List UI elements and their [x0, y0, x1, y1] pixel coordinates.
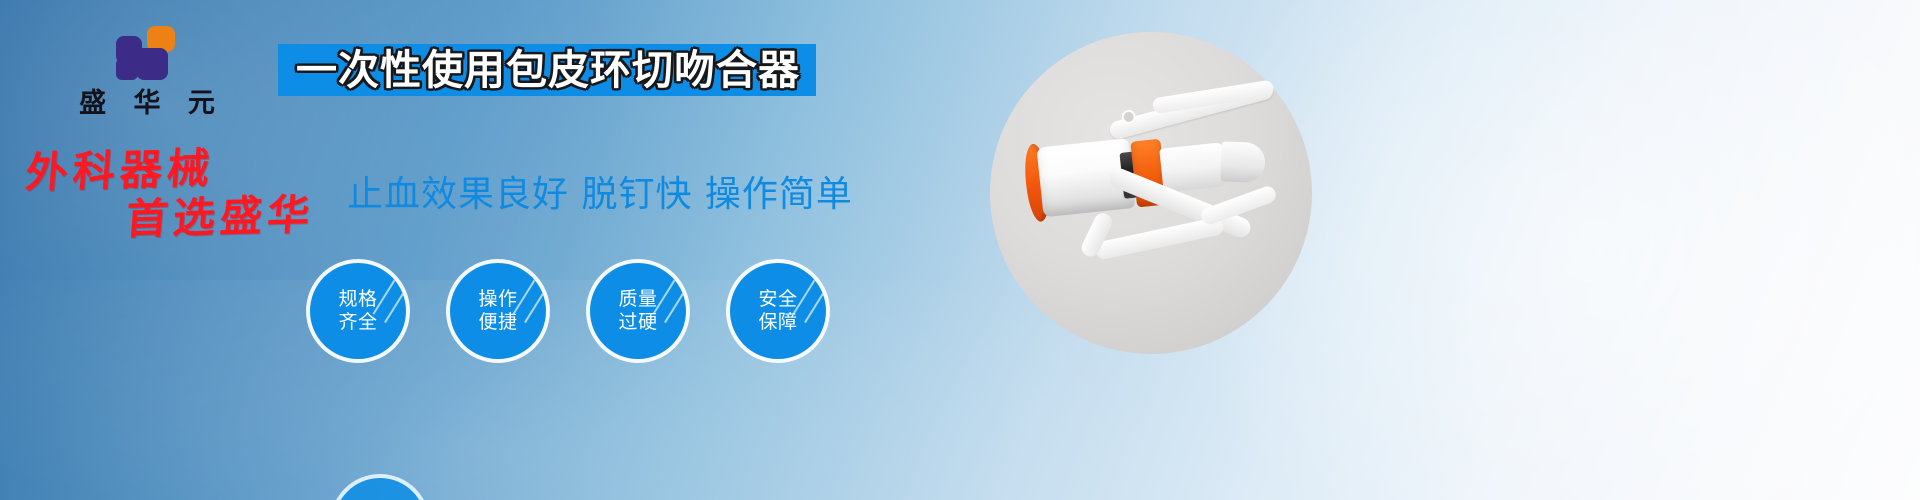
slogan-line-2: 首选盛华	[16, 192, 370, 244]
feature-badge-quality[interactable]: 质量过硬	[590, 263, 686, 359]
feature-label-line-2: 保障	[758, 311, 797, 333]
feature-badge-label: 安全保障	[758, 288, 797, 334]
feature-label-line-1: 质量	[618, 288, 657, 310]
decorative-circle	[330, 474, 430, 500]
feature-badge-specification[interactable]: 规格齐全	[310, 263, 406, 359]
slash-decoration-icon	[524, 293, 543, 323]
slogan-line-1: 外科器械	[16, 143, 370, 195]
subtitle: 止血效果良好 脱钉快 操作简单	[347, 165, 853, 217]
feature-label-line-2: 便捷	[478, 311, 517, 333]
feature-label-line-2: 过硬	[618, 311, 657, 333]
feature-label-line-1: 规格	[338, 288, 377, 310]
promo-banner: 盛 华 元 外科器械 首选盛华 一次性使用包皮环切吻合器 止血效果良好 脱钉快 …	[0, 0, 1920, 500]
product-image	[990, 32, 1312, 354]
brand-name: 盛 华 元	[62, 90, 232, 117]
product-title-bar: 一次性使用包皮环切吻合器	[278, 44, 816, 96]
calligraphy-slogan: 外科器械 首选盛华	[18, 148, 368, 240]
feature-badge-label: 规格齐全	[338, 288, 377, 334]
slash-decoration-icon	[804, 293, 823, 323]
feature-badge-list: 规格齐全 操作便捷 质量过硬 安全保障	[310, 263, 826, 359]
feature-label-line-1: 操作	[478, 288, 517, 310]
feature-label-line-1: 安全	[758, 288, 797, 310]
stapler-device-illustration	[1004, 96, 1298, 294]
device-nose-cone	[1220, 141, 1265, 183]
logo-square-bottom-left	[116, 58, 138, 80]
feature-badge-label: 质量过硬	[618, 288, 657, 334]
brand-logo[interactable]: 盛 华 元	[62, 26, 232, 117]
device-nose	[1159, 142, 1229, 193]
feature-badge-safety[interactable]: 安全保障	[730, 263, 826, 359]
logo-mark-icon	[116, 26, 178, 84]
logo-square-bottom-right	[136, 48, 168, 80]
feature-label-line-2: 齐全	[338, 311, 377, 333]
page-title: 一次性使用包皮环切吻合器	[296, 50, 800, 91]
feature-badge-operation[interactable]: 操作便捷	[450, 263, 546, 359]
slash-decoration-icon	[664, 293, 683, 323]
slash-decoration-icon	[384, 293, 403, 323]
feature-badge-label: 操作便捷	[478, 288, 517, 334]
